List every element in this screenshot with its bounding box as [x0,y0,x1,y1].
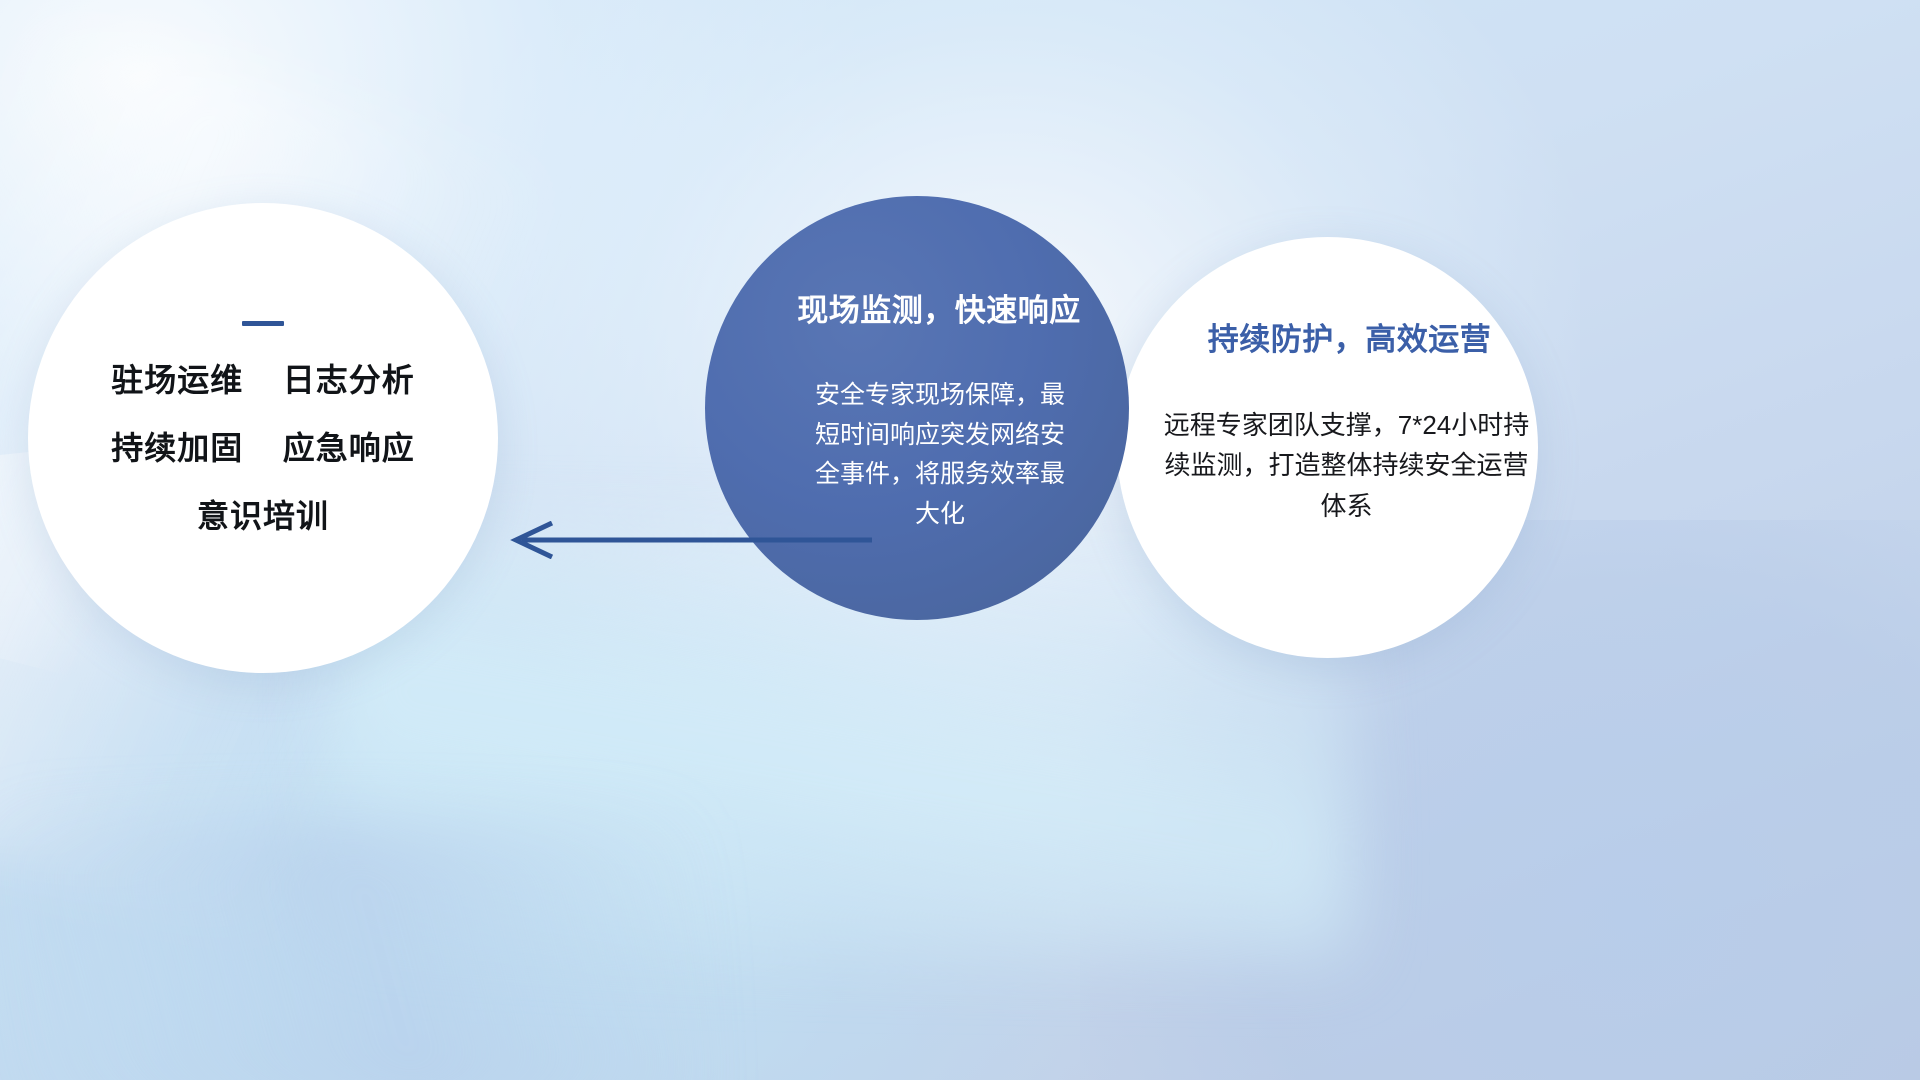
title-divider-dash [242,321,284,326]
continuous-protection-body: 远程专家团队支撑，7*24小时持续监测，打造整体持续安全运营体系 [1161,405,1533,526]
capability-line-3: 意识培训 [197,500,329,532]
onsite-monitoring-body: 安全专家现场保障，最短时间响应突发网络安全事件，将服务效率最大化 [810,376,1070,534]
capability-line-2: 持续加固 应急响应 [111,432,415,464]
background-light-streak-corner [0,820,700,1080]
slide-canvas: 驻场运维 日志分析 持续加固 应急响应 意识培训 持续防护，高效运营 远程专家团… [0,0,1920,1080]
capability-list-circle: 驻场运维 日志分析 持续加固 应急响应 意识培训 [28,203,498,673]
continuous-protection-title: 持续防护，高效运营 [1208,323,1492,357]
continuous-protection-circle: 持续防护，高效运营 远程专家团队支撑，7*24小时持续监测，打造整体持续安全运营… [1117,237,1538,658]
onsite-monitoring-title: 现场监测，快速响应 [797,294,1081,328]
arrow-left-icon [494,521,874,559]
capability-line-1: 驻场运维 日志分析 [111,364,415,396]
